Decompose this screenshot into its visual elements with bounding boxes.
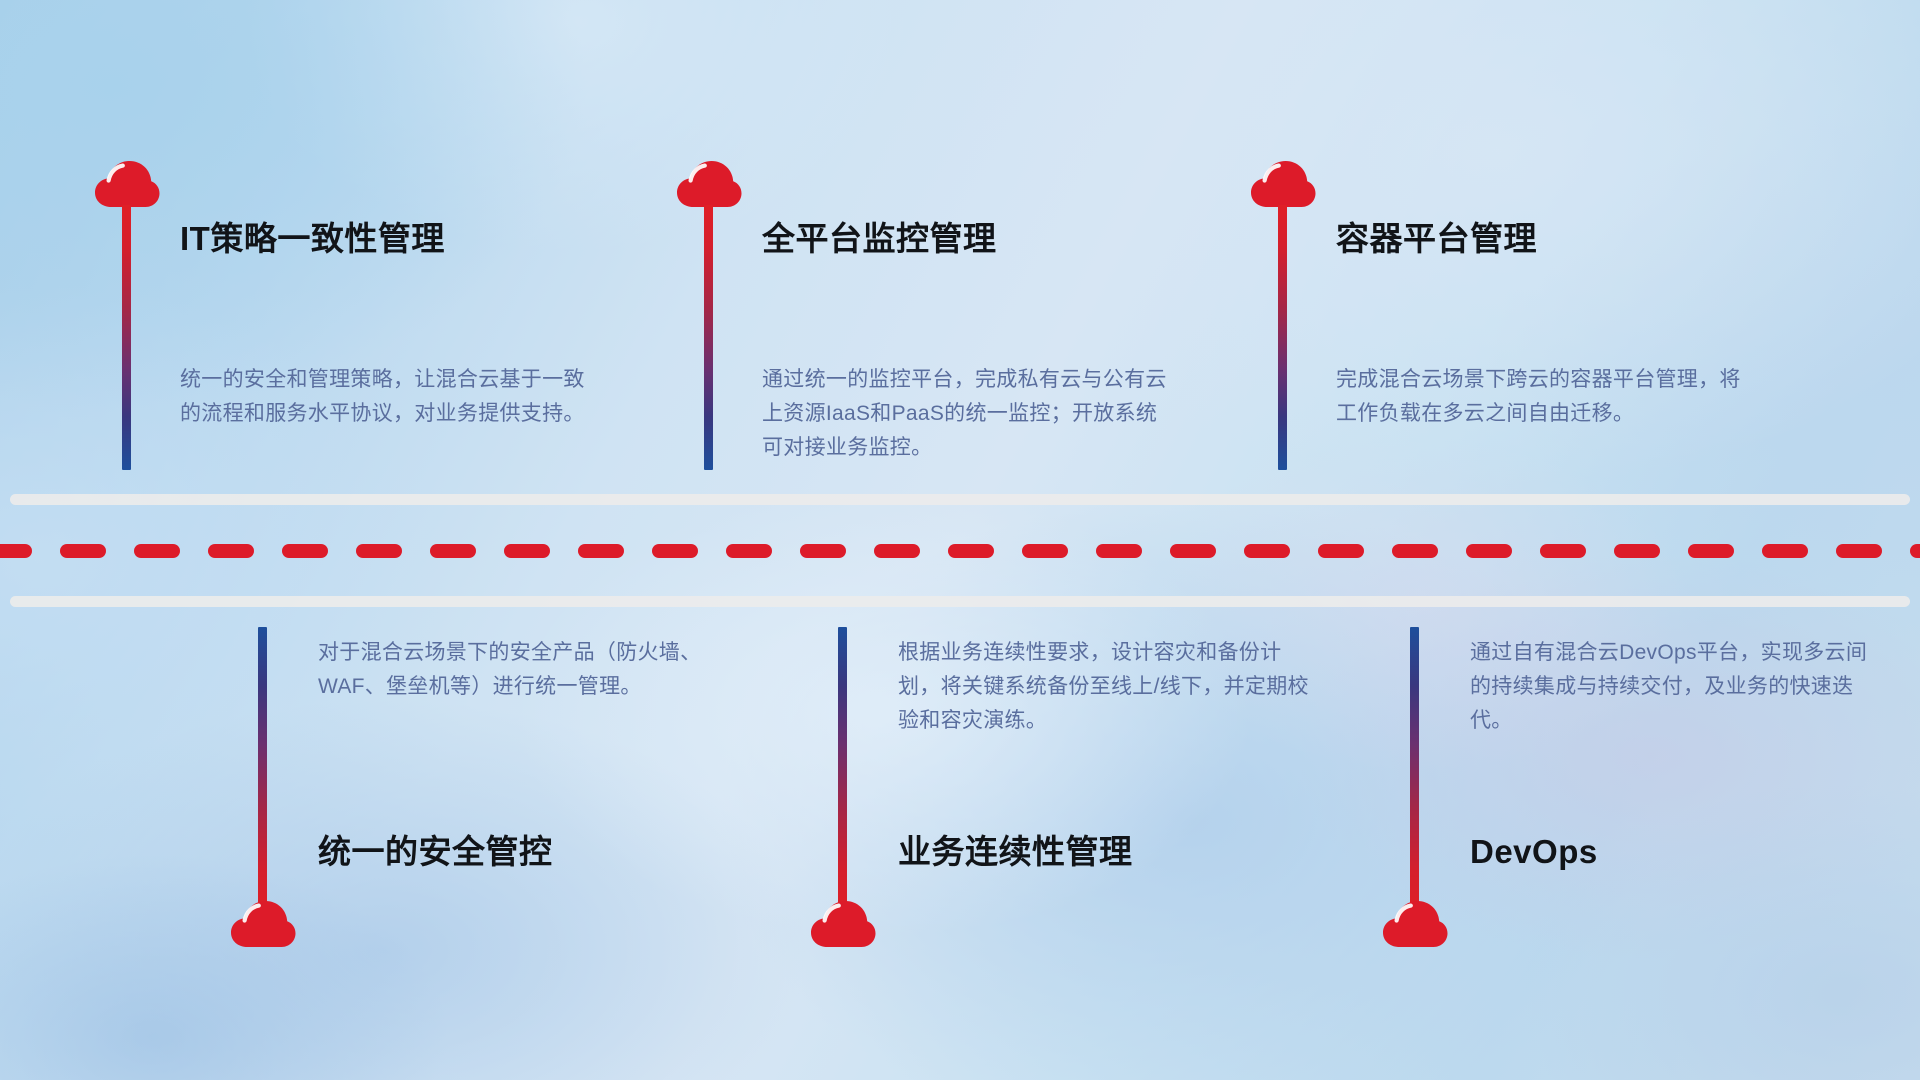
dash-segment: [578, 544, 624, 558]
dash-segment: [948, 544, 994, 558]
top-item-body: 统一的安全和管理策略，让混合云基于一致的流程和服务水平协议，对业务提供支持。: [180, 363, 592, 431]
divider-dashed-line: [0, 544, 1920, 558]
bottom-item-title: DevOps: [1470, 835, 1598, 868]
connector-stem: [704, 205, 713, 470]
bottom-item-title: 业务连续性管理: [898, 835, 1133, 868]
dash-segment: [652, 544, 698, 558]
top-item-title: 容器平台管理: [1336, 222, 1537, 255]
top-item-body: 完成混合云场景下跨云的容器平台管理，将工作负载在多云之间自由迁移。: [1336, 363, 1748, 431]
dash-segment: [1688, 544, 1734, 558]
divider-upper-rule: [10, 494, 1910, 505]
connector-stem: [1410, 627, 1419, 917]
connector-stem: [122, 205, 131, 470]
dash-segment: [1392, 544, 1438, 558]
dash-segment: [800, 544, 846, 558]
dash-segment: [356, 544, 402, 558]
dash-segment: [504, 544, 550, 558]
dash-segment: [1466, 544, 1512, 558]
dash-segment: [1540, 544, 1586, 558]
dash-segment: [874, 544, 920, 558]
dash-segment: [60, 544, 106, 558]
divider-lower-rule: [10, 596, 1910, 607]
cloud-icon: [676, 160, 742, 208]
dash-segment: [1318, 544, 1364, 558]
cloud-icon: [94, 160, 160, 208]
bottom-item-body: 对于混合云场景下的安全产品（防火墙、WAF、堡垒机等）进行统一管理。: [318, 636, 730, 704]
cloud-icon: [1250, 160, 1316, 208]
bottom-item-title: 统一的安全管控: [318, 835, 553, 868]
connector-stem: [258, 627, 267, 917]
dash-segment: [1170, 544, 1216, 558]
dash-segment: [134, 544, 180, 558]
dash-segment: [1836, 544, 1882, 558]
bottom-item-body: 根据业务连续性要求，设计容灾和备份计划，将关键系统备份至线上/线下，并定期校验和…: [898, 636, 1310, 738]
bottom-item-body: 通过自有混合云DevOps平台，实现多云间的持续集成与持续交付，及业务的快速迭代…: [1470, 636, 1882, 738]
infographic-canvas: IT策略一致性管理 统一的安全和管理策略，让混合云基于一致的流程和服务水平协议，…: [0, 0, 1920, 1080]
connector-stem: [1278, 205, 1287, 470]
dash-segment: [1762, 544, 1808, 558]
connector-stem: [838, 627, 847, 917]
dash-segment: [1910, 544, 1920, 558]
top-item-body: 通过统一的监控平台，完成私有云与公有云上资源IaaS和PaaS的统一监控；开放系…: [762, 363, 1174, 465]
dash-segment: [1614, 544, 1660, 558]
dash-segment: [0, 544, 32, 558]
cloud-icon: [230, 900, 296, 948]
dash-segment: [208, 544, 254, 558]
dash-segment: [1244, 544, 1290, 558]
dash-segment: [1096, 544, 1142, 558]
dash-segment: [1022, 544, 1068, 558]
top-item-title: IT策略一致性管理: [180, 222, 445, 255]
dash-segment: [726, 544, 772, 558]
cloud-icon: [810, 900, 876, 948]
cloud-icon: [1382, 900, 1448, 948]
top-item-title: 全平台监控管理: [762, 222, 997, 255]
dash-segment: [430, 544, 476, 558]
dash-segment: [282, 544, 328, 558]
